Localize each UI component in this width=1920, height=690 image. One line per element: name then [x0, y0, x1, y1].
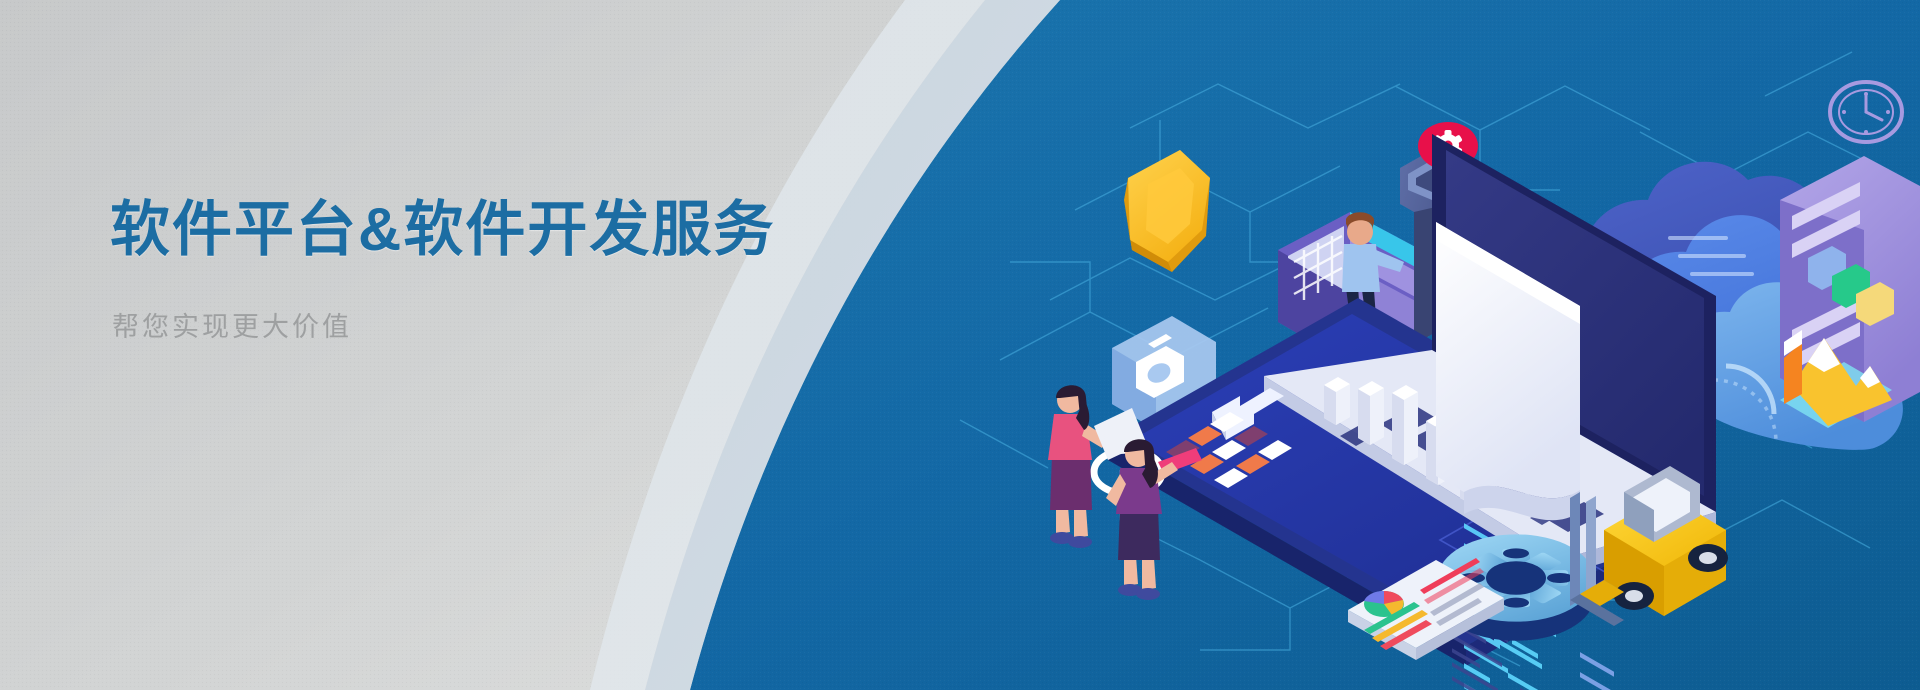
shield-icon	[1124, 150, 1210, 272]
code-lines-right	[1580, 652, 1630, 690]
hero-banner: 软件平台&软件开发服务 帮您实现更大价值	[0, 0, 1920, 690]
page-subtitle: 帮您实现更大价值	[112, 305, 775, 344]
isometric-illustration	[880, 0, 1920, 690]
banner-text-block: 软件平台&软件开发服务 帮您实现更大价值	[110, 196, 775, 344]
page-title: 软件平台&软件开发服务	[110, 196, 775, 263]
clock-icon	[1830, 82, 1902, 142]
